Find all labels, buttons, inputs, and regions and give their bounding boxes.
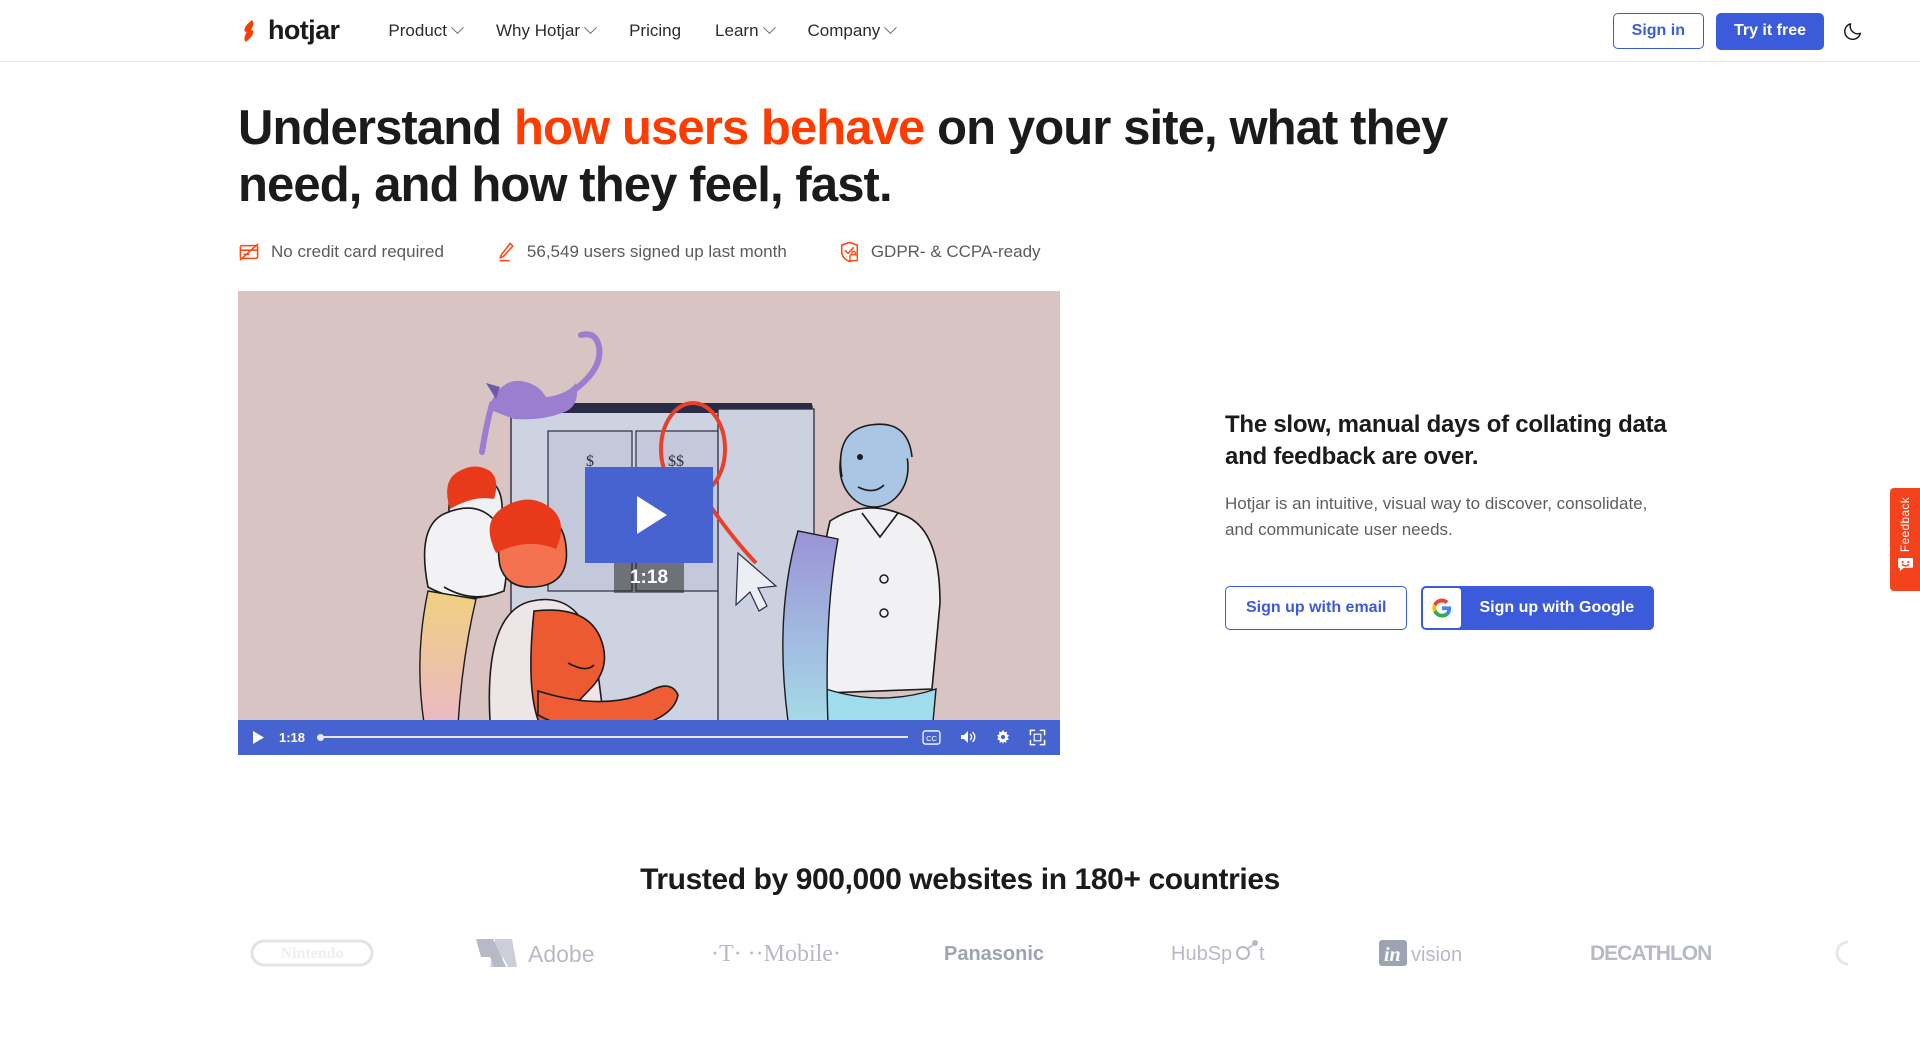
chevron-down-icon (584, 21, 597, 34)
dark-mode-toggle[interactable] (1836, 16, 1870, 46)
fullscreen-button[interactable] (1025, 727, 1050, 748)
sign-in-button[interactable]: Sign in (1613, 13, 1704, 49)
nav-item-pricing[interactable]: Pricing (612, 0, 698, 62)
volume-button[interactable] (955, 727, 981, 747)
pencil-icon (496, 241, 516, 263)
hotjar-logo[interactable]: hotjar (238, 15, 339, 46)
play-control-button[interactable] (248, 728, 269, 747)
nav-label: Company (808, 21, 881, 41)
video-player[interactable]: $ $$ $$$ (238, 291, 1060, 755)
progress-track (317, 736, 908, 738)
logo-t-mobile: ·T· ··Mobile· (711, 938, 846, 968)
svg-text:·T· ··Mobile·: ·T· ··Mobile· (711, 941, 841, 967)
main-nav: Product Why Hotjar Pricing Learn Company (371, 0, 912, 62)
play-icon (637, 496, 667, 534)
svg-text:Adobe: Adobe (528, 941, 595, 967)
logo-panasonic: Panasonic (944, 940, 1072, 966)
hero-main: $ $$ $$$ (238, 291, 1920, 755)
progress-handle[interactable] (317, 734, 324, 741)
gear-icon (995, 729, 1011, 745)
chevron-down-icon (451, 21, 464, 34)
right-column-body: Hotjar is an intuitive, visual way to di… (1225, 491, 1680, 542)
captions-button[interactable]: CC (918, 728, 945, 747)
volume-icon (959, 729, 977, 745)
play-button-overlay[interactable] (585, 467, 713, 563)
badge-gdpr: GDPR- & CCPA-ready (839, 241, 1041, 263)
nav-item-product[interactable]: Product (371, 0, 479, 62)
video-current-time: 1:18 (279, 730, 307, 745)
brand-name: hotjar (268, 15, 339, 46)
hotjar-flame-logo-icon (238, 19, 260, 43)
badge-label: 56,549 users signed up last month (527, 242, 787, 262)
feedback-tab-label: Feedback (1898, 497, 1912, 552)
nav-label: Product (388, 21, 447, 41)
signup-google-button[interactable]: Sign up with Google (1421, 586, 1654, 630)
headline-part-1: Understand (238, 101, 514, 155)
badge-label: No credit card required (271, 242, 444, 262)
logo-invision: in vision (1379, 938, 1491, 968)
nav-label: Learn (715, 21, 758, 41)
svg-text:in: in (1384, 944, 1401, 966)
fullscreen-icon (1029, 729, 1046, 746)
logo-partial-cutoff (1824, 938, 1864, 968)
try-it-free-button[interactable]: Try it free (1716, 13, 1824, 50)
google-g-icon (1423, 588, 1461, 628)
badge-no-credit-card: No credit card required (238, 242, 444, 262)
logo-adobe: Adobe (472, 935, 612, 971)
play-icon (252, 730, 265, 745)
cc-icon: CC (922, 730, 941, 745)
badge-label: GDPR- & CCPA-ready (871, 242, 1041, 262)
nav-label: Why Hotjar (496, 21, 580, 41)
chevron-down-icon (763, 21, 776, 34)
shield-lock-check-icon (839, 241, 860, 263)
signup-google-label: Sign up with Google (1463, 586, 1654, 630)
logo-nintendo: Nintendo (250, 936, 374, 970)
svg-text:vision: vision (1411, 944, 1462, 966)
nav-item-why-hotjar[interactable]: Why Hotjar (479, 0, 612, 62)
nav-label: Pricing (629, 21, 681, 41)
feedback-tab[interactable]: Feedback (1890, 488, 1920, 591)
svg-text:t: t (1259, 943, 1265, 965)
logo-decathlon: DECATHLON (1590, 940, 1726, 966)
logo-hubspot: HubSp t (1171, 939, 1281, 967)
hero-badges: No credit card required 56,549 users sig… (238, 241, 1920, 263)
site-header: hotjar Product Why Hotjar Pricing Learn … (0, 0, 1920, 62)
customer-logos: Nintendo Adobe ·T· ··Mobile· Panasonic H… (250, 935, 1864, 971)
badge-signups: 56,549 users signed up last month (496, 241, 787, 263)
video-progress-bar[interactable] (317, 730, 908, 744)
trusted-heading: Trusted by 900,000 websites in 180+ coun… (0, 863, 1920, 897)
right-column-title: The slow, manual days of collating data … (1225, 409, 1695, 473)
video-controls: 1:18 CC (238, 720, 1060, 755)
nav-item-learn[interactable]: Learn (698, 0, 790, 62)
no-credit-card-icon (238, 242, 260, 262)
page-title: Understand how users behave on your site… (238, 100, 1448, 215)
svg-text:HubSp: HubSp (1171, 943, 1232, 965)
svg-text:Panasonic: Panasonic (944, 943, 1044, 965)
moon-icon (1842, 20, 1864, 42)
video-duration-badge: 1:18 (614, 563, 684, 593)
nav-item-company[interactable]: Company (791, 0, 913, 62)
signup-email-button[interactable]: Sign up with email (1225, 586, 1407, 630)
svg-text:DECATHLON: DECATHLON (1590, 942, 1711, 965)
svg-text:CC: CC (926, 733, 937, 742)
settings-button[interactable] (991, 727, 1015, 747)
svg-text:Nintendo: Nintendo (280, 945, 343, 962)
hero-right-column: The slow, manual days of collating data … (1225, 291, 1695, 631)
headline-accent: how users behave (514, 101, 924, 155)
chevron-down-icon (884, 21, 897, 34)
smiley-speech-bubble-icon (1897, 557, 1914, 572)
signup-cta-row: Sign up with email Sign up with Google (1225, 586, 1695, 630)
header-actions: Sign in Try it free (1613, 0, 1870, 62)
